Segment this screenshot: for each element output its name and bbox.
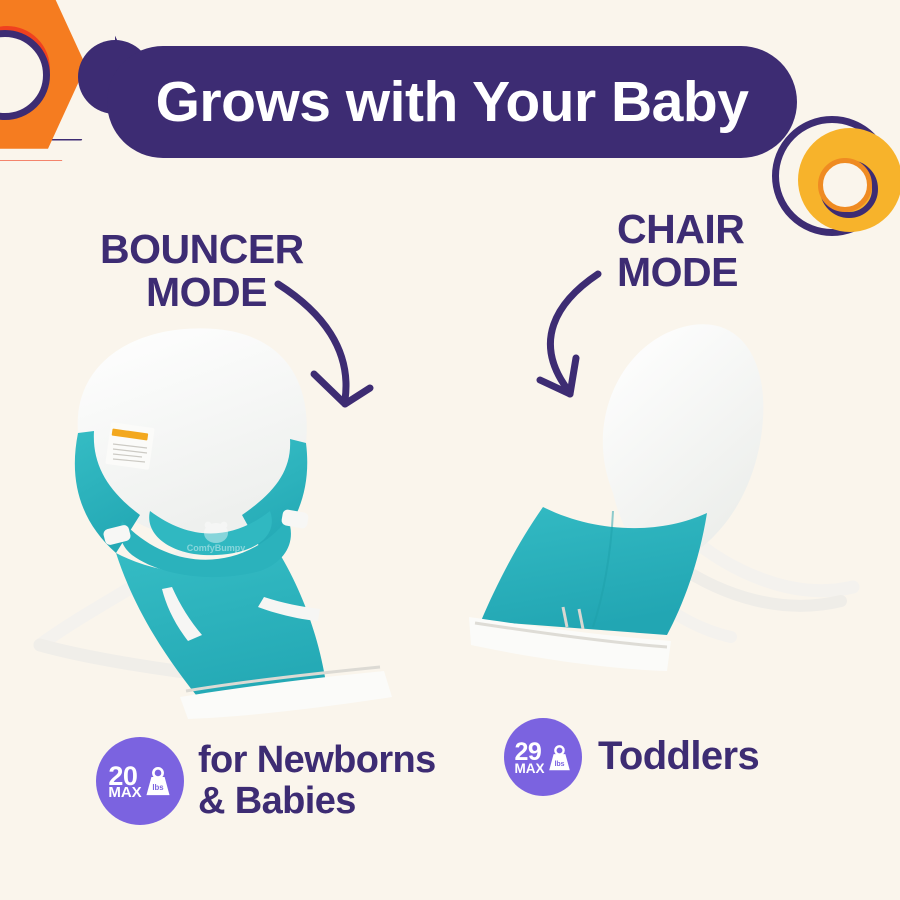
- warning-label: [105, 422, 154, 470]
- badge-max-label: MAX: [108, 787, 141, 799]
- claim-text-toddlers: Toddlers: [598, 735, 759, 778]
- claim-line2: & Babies: [198, 780, 356, 822]
- curved-arrow-down-right-icon: [520, 268, 650, 418]
- weight-badge-20: 20 MAX lbs: [96, 737, 184, 825]
- svg-text:lbs: lbs: [554, 760, 564, 767]
- claim-text-newborns: for Newborns & Babies: [198, 740, 436, 822]
- infographic-canvas: Grows with Your Baby BOUNCER MODE CHAIR …: [0, 0, 900, 900]
- weight-lbs-icon: lbs: [547, 745, 572, 772]
- weight-lbs-icon: lbs: [144, 767, 172, 797]
- claim-newborns: 20 MAX lbs for Newborns & Babies: [96, 737, 436, 825]
- bouncer-mode-line1: BOUNCER: [100, 226, 304, 272]
- page-title: Grows with Your Baby: [156, 69, 749, 135]
- svg-text:ComfyBumpy: ComfyBumpy: [187, 543, 246, 553]
- headline-banner: Grows with Your Baby: [107, 46, 797, 158]
- product-image-chair: [445, 315, 865, 705]
- chair-mode-line1: CHAIR: [617, 206, 744, 252]
- claim-line1: for Newborns: [198, 739, 436, 781]
- claim-line1: Toddlers: [598, 734, 759, 778]
- svg-text:lbs: lbs: [152, 783, 164, 792]
- claim-toddlers: 29 MAX lbs Toddlers: [504, 718, 759, 796]
- curved-arrow-down-left-icon: [270, 278, 400, 428]
- donut-hole-icon: [818, 158, 872, 212]
- badge-number: 29: [515, 742, 542, 763]
- badge-max-label: MAX: [515, 763, 545, 774]
- weight-badge-29: 29 MAX lbs: [504, 718, 582, 796]
